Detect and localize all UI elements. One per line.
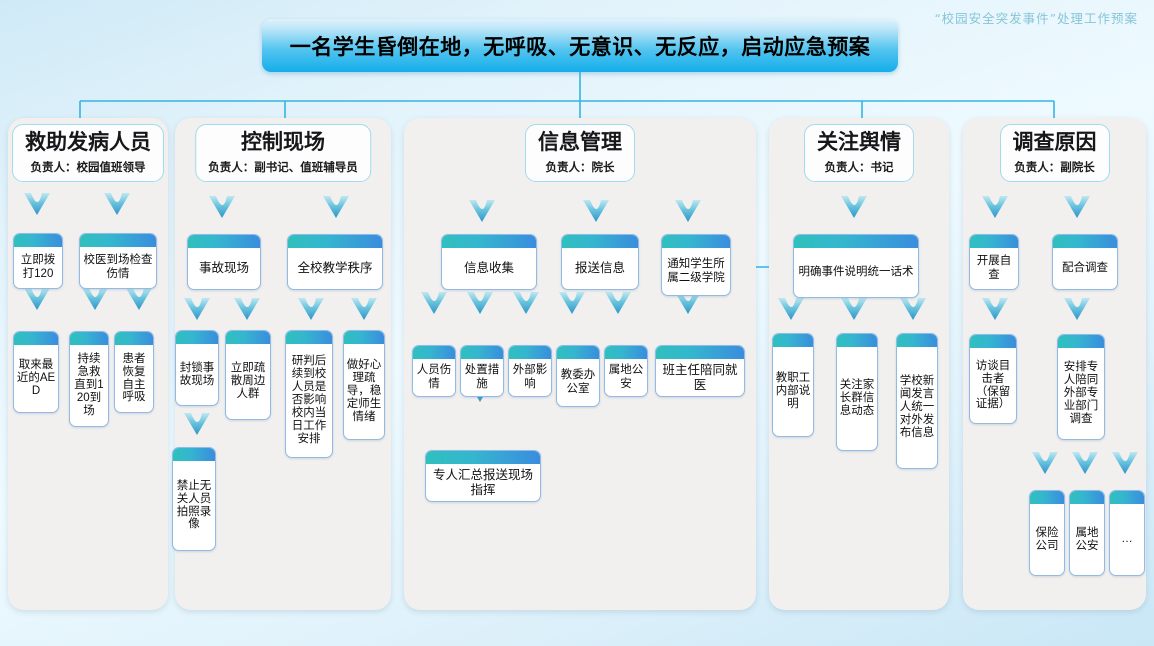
node-accident-scene[interactable]: 事故现场 — [187, 234, 261, 290]
panel-title: 信息管理 — [538, 130, 622, 156]
node-cap — [773, 334, 813, 347]
node-cap — [970, 335, 1016, 348]
node-label: 报送信息 — [562, 248, 638, 289]
panel-header-rescue: 救助发病人员 负责人：校园值班领导 — [12, 124, 164, 182]
node-label: 研判后续到校人员是否影响校内当日工作安排 — [286, 344, 332, 457]
node-cap — [897, 334, 937, 347]
node-label: 配合调查 — [1053, 248, 1117, 289]
node-label: 持续急救直到120到场 — [70, 345, 108, 426]
node-cap — [1110, 491, 1144, 504]
node-assess-work-arrangement[interactable]: 研判后续到校人员是否影响校内当日工作安排 — [285, 330, 333, 458]
node-label: 人员伤情 — [413, 359, 455, 396]
node-label: 封锁事故现场 — [176, 344, 218, 405]
panel-header-investigate-cause: 调查原因 负责人：副院长 — [1000, 124, 1110, 182]
node-label: 立即疏散周边人群 — [226, 344, 270, 419]
node-cap — [70, 332, 108, 345]
panel-title: 控制现场 — [208, 130, 358, 156]
node-cap — [426, 451, 540, 464]
node-local-police[interactable]: 属地公安 — [604, 345, 648, 397]
node-label: 做好心理疏导，稳定师生情绪 — [344, 344, 384, 439]
node-cooperate-investigation[interactable]: 配合调查 — [1052, 234, 1118, 290]
node-insurance-company[interactable]: 保险公司 — [1029, 490, 1065, 576]
node-cap — [286, 331, 332, 344]
node-cap — [461, 346, 503, 359]
node-cap — [509, 346, 551, 359]
node-label: 处置措施 — [461, 359, 503, 396]
panel-header-information-management: 信息管理 负责人：院长 — [525, 124, 635, 182]
node-disperse-crowd[interactable]: 立即疏散周边人群 — [225, 330, 271, 420]
node-label: 学校新闻发言人统一对外发布信息 — [897, 347, 937, 468]
node-teacher-escort[interactable]: 班主任陪同就医 — [655, 345, 745, 397]
node-cap — [1058, 335, 1104, 348]
node-cap — [188, 235, 260, 248]
node-cap — [605, 346, 647, 359]
node-label: 明确事件说明统一话术 — [794, 248, 918, 297]
node-label: 全校教学秩序 — [288, 248, 382, 289]
node-cap — [413, 346, 455, 359]
node-handling-measures[interactable]: 处置措施 — [460, 345, 504, 397]
node-cap — [1053, 235, 1117, 248]
node-cap — [442, 235, 536, 248]
panel-title: 关注舆情 — [817, 130, 901, 156]
node-cap — [794, 235, 918, 248]
node-label: 事故现场 — [188, 248, 260, 289]
node-label: 访谈目击者（保留证据） — [970, 348, 1016, 423]
node-info-collection[interactable]: 信息收集 — [441, 234, 537, 290]
node-label: 专人汇总报送现场指挥 — [426, 464, 540, 501]
panel-owner: 负责人：副院长 — [1013, 159, 1097, 175]
node-label: 班主任陪同就医 — [656, 359, 744, 396]
panel-title: 调查原因 — [1013, 130, 1097, 156]
node-label: 取来最近的AED — [14, 345, 58, 412]
node-label: 通知学生所属二级学院 — [662, 248, 730, 295]
node-label: … — [1110, 504, 1144, 575]
node-cap — [662, 235, 730, 248]
node-cap — [115, 332, 153, 345]
panel-title: 救助发病人员 — [25, 130, 151, 156]
page-title: 一名学生昏倒在地，无呼吸、无意识、无反应，启动应急预案 — [290, 31, 871, 61]
node-cap — [1070, 491, 1104, 504]
node-spokesperson-release[interactable]: 学校新闻发言人统一对外发布信息 — [896, 333, 938, 469]
node-teaching-order[interactable]: 全校教学秩序 — [287, 234, 383, 290]
node-no-photo-recording[interactable]: 禁止无关人员拍照录像 — [172, 447, 216, 551]
node-cap — [226, 331, 270, 344]
panel-header-scene-control: 控制现场 负责人：副书记、值班辅导员 — [195, 124, 371, 182]
node-cap — [656, 346, 744, 359]
node-cap — [176, 331, 218, 344]
node-cap — [14, 332, 58, 345]
node-cap — [970, 235, 1018, 248]
node-education-office[interactable]: 教委办公室 — [556, 345, 600, 407]
node-cap — [173, 448, 215, 461]
panel-header-public-opinion: 关注舆情 负责人：书记 — [804, 124, 914, 182]
node-escort-external-expert[interactable]: 安排专人陪同外部专业部门调查 — [1057, 334, 1105, 440]
node-cap — [80, 234, 156, 247]
node-cap — [837, 334, 877, 347]
node-label: 信息收集 — [442, 248, 536, 289]
node-external-impact[interactable]: 外部影响 — [508, 345, 552, 397]
node-label: 外部影响 — [509, 359, 551, 396]
panel-owner: 负责人：书记 — [817, 159, 901, 175]
node-cap — [14, 234, 62, 247]
node-label: 教职工内部说明 — [773, 347, 813, 436]
node-cap — [562, 235, 638, 248]
node-cpr[interactable]: 持续急救直到120到场 — [69, 331, 109, 427]
node-self-inspection[interactable]: 开展自查 — [969, 234, 1019, 290]
node-cap — [557, 346, 599, 359]
panel-owner: 负责人：副书记、值班辅导员 — [208, 159, 358, 175]
panel-owner: 负责人：院长 — [538, 159, 622, 175]
panel-owner: 负责人：校园值班领导 — [25, 159, 151, 175]
node-label: 属地公安 — [1070, 504, 1104, 575]
node-school-doctor[interactable]: 校医到场检查伤情 — [79, 233, 157, 289]
node-more-ellipsis[interactable]: … — [1109, 490, 1145, 576]
node-label: 立即拨打120 — [14, 247, 62, 288]
node-notify-college[interactable]: 通知学生所属二级学院 — [661, 234, 731, 296]
node-interview-witness[interactable]: 访谈目击者（保留证据） — [969, 334, 1017, 424]
node-psych-counseling[interactable]: 做好心理疏导，稳定师生情绪 — [343, 330, 385, 440]
node-label: 保险公司 — [1030, 504, 1064, 575]
node-call120[interactable]: 立即拨打120 — [13, 233, 63, 289]
node-unified-statement[interactable]: 明确事件说明统一话术 — [793, 234, 919, 298]
node-label: 校医到场检查伤情 — [80, 247, 156, 288]
node-summary-report[interactable]: 专人汇总报送现场指挥 — [425, 450, 541, 502]
node-parent-group-monitor[interactable]: 关注家长群信息动态 — [836, 333, 878, 451]
node-staff-internal-brief[interactable]: 教职工内部说明 — [772, 333, 814, 437]
node-label: 属地公安 — [605, 359, 647, 396]
node-label: 开展自查 — [970, 248, 1018, 289]
node-label: 安排专人陪同外部专业部门调查 — [1058, 348, 1104, 439]
node-personnel-injury[interactable]: 人员伤情 — [412, 345, 456, 397]
node-cap — [1030, 491, 1064, 504]
node-breathing[interactable]: 患者恢复自主呼吸 — [114, 331, 154, 413]
node-local-police-2[interactable]: 属地公安 — [1069, 490, 1105, 576]
main-title-banner: 一名学生昏倒在地，无呼吸、无意识、无反应，启动应急预案 — [262, 19, 898, 72]
node-aed[interactable]: 取来最近的AED — [13, 331, 59, 413]
node-cap — [344, 331, 384, 344]
document-caption: “校园安全突发事件”处理工作预案 — [934, 8, 1138, 27]
node-label: 禁止无关人员拍照录像 — [173, 461, 215, 550]
node-seal-scene[interactable]: 封锁事故现场 — [175, 330, 219, 406]
node-label: 教委办公室 — [557, 359, 599, 406]
node-cap — [288, 235, 382, 248]
node-submit-info[interactable]: 报送信息 — [561, 234, 639, 290]
node-label: 患者恢复自主呼吸 — [115, 345, 153, 412]
node-label: 关注家长群信息动态 — [837, 347, 877, 450]
